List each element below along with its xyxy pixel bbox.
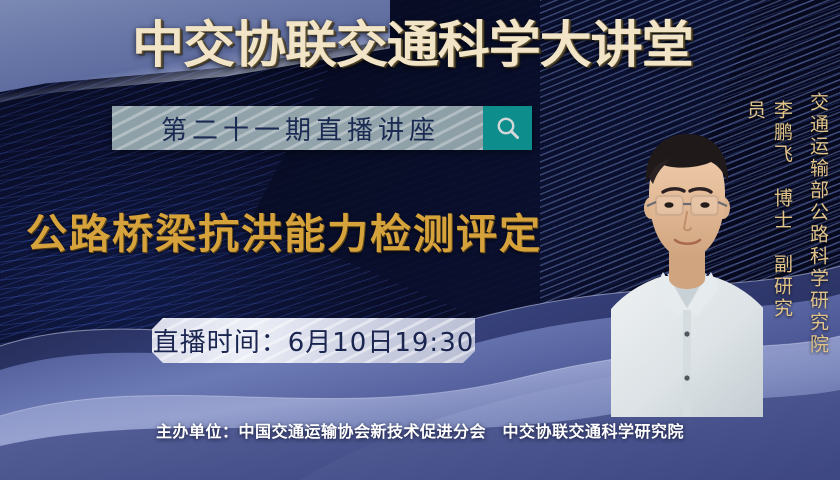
speaker-organization: 交通运输部公路科学研究院: [805, 92, 832, 372]
speaker-portrait: [611, 112, 763, 417]
livestream-poster: 交通运输部公路科学研究院 李鹏飞 博士 副研究员 中交协联交通科学大讲堂 第二十…: [0, 0, 840, 480]
broadcast-time-text: 直播时间：6月10日19:30: [153, 322, 475, 359]
search-icon: [495, 115, 521, 141]
organizers-footer: 主办单位：中国交通运输协会新技术促进分会 中交协联交通科学研究院: [0, 418, 840, 442]
topic-title: 公路桥梁抗洪能力检测评定: [26, 205, 542, 263]
search-button[interactable]: [483, 106, 532, 150]
speaker-name-title: 李鹏飞 博士 副研究员: [742, 100, 796, 330]
episode-label: 第二十一期直播讲座: [112, 110, 483, 147]
broadcast-time-banner: 直播时间：6月10日19:30: [152, 318, 475, 363]
page-title: 中交协联交通科学大讲堂: [132, 14, 756, 76]
episode-bar: 第二十一期直播讲座: [112, 106, 532, 150]
